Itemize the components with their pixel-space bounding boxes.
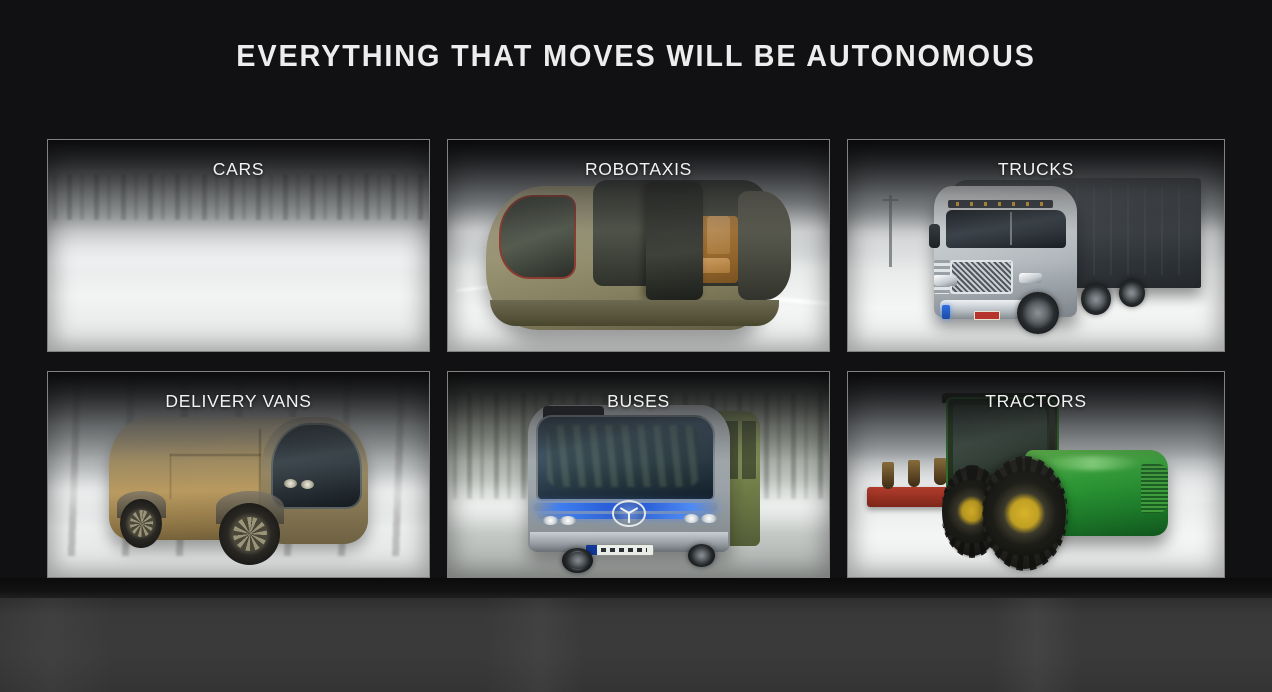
tile-trucks[interactable]: TRUCKS [847,139,1225,352]
tile-label-trucks: TRUCKS [848,159,1224,180]
presentation-slide: EVERYTHING THAT MOVES WILL BE AUTONOMOUS [0,0,1272,692]
stage-floor-reflection [0,598,1272,692]
license-plate [585,544,654,556]
utility-pole [889,195,892,267]
tile-label-delivery-vans: DELIVERY VANS [48,391,429,412]
stage-floor [0,598,1272,692]
tile-label-tractors: TRACTORS [848,391,1224,412]
tile-label-buses: BUSES [448,391,829,412]
mercedes-star-icon [612,500,646,527]
tile-delivery-vans[interactable]: DELIVERY VANS [47,371,430,578]
tile-tractors[interactable]: TRACTORS [847,371,1225,578]
page-title: EVERYTHING THAT MOVES WILL BE AUTONOMOUS [45,38,1228,74]
tile-buses[interactable]: BUSES [447,371,830,578]
tile-cars[interactable]: CARS [47,139,430,352]
treeline [48,174,429,220]
vehicle-category-grid: CARS [47,139,1225,578]
horizon-haze [48,220,429,275]
tile-robotaxis[interactable]: ROBOTAXIS [447,139,830,352]
tile-label-robotaxis: ROBOTAXIS [448,159,829,180]
tile-label-cars: CARS [48,159,429,180]
